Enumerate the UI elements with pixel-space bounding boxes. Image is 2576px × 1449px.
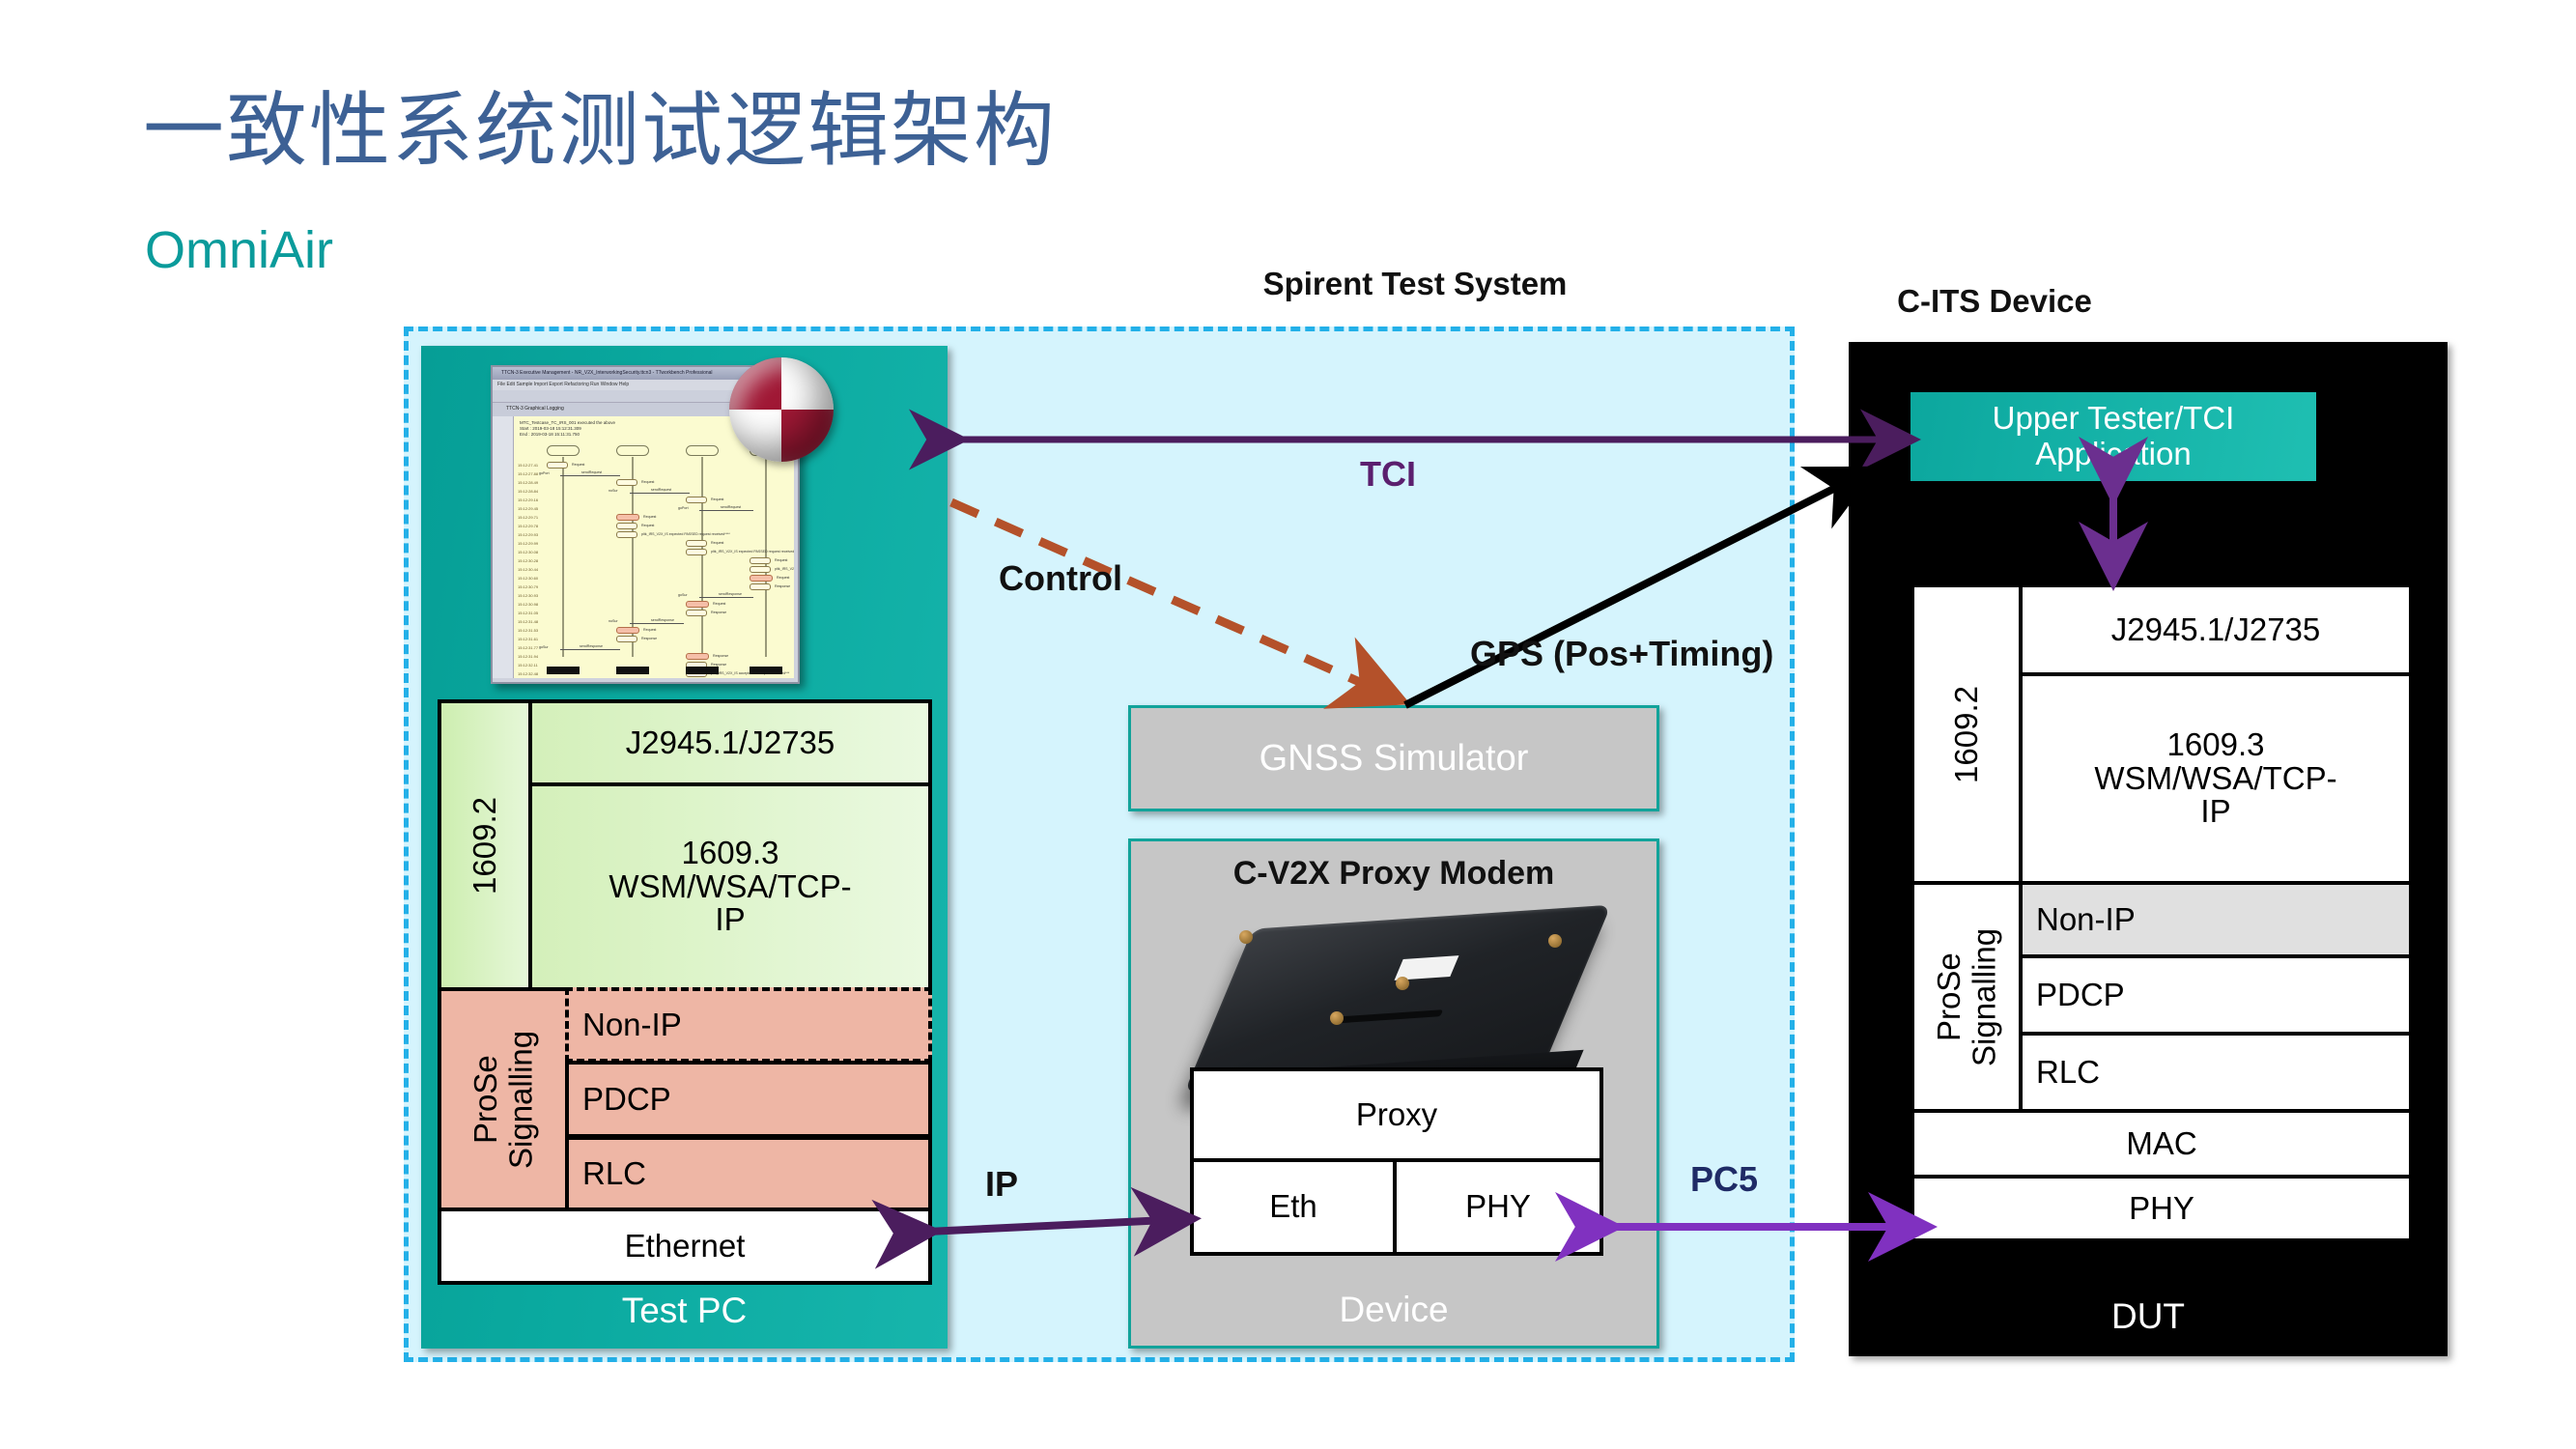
gnss-simulator-box: GNSS Simulator: [1128, 705, 1659, 811]
spirent-test-system-caption: Spirent Test System: [1188, 266, 1642, 302]
upper-tester-tci-application-box: Upper Tester/TCI Application: [1911, 392, 2316, 481]
test-pc-protocol-stack: 1609.2 J2945.1/J2735 1609.3 WSM/WSA/TCP-…: [438, 699, 932, 1289]
test-pc-cell-j2945: J2945.1/J2735: [528, 699, 932, 786]
cv2x-proxy-modem-title: C-V2X Proxy Modem: [1131, 855, 1656, 893]
dut-cell-rlc: RLC: [2019, 1032, 2413, 1113]
page-subtitle: OmniAir: [145, 220, 333, 280]
dut-cell-phy: PHY: [1911, 1175, 2413, 1242]
modem-cell-phy: PHY: [1393, 1158, 1603, 1256]
connector-label-tci: TCI: [1360, 454, 1416, 495]
proxy-modem-stack: Proxy Eth PHY: [1190, 1067, 1603, 1256]
connector-label-pc5: PC5: [1690, 1159, 1758, 1200]
connector-label-ip: IP: [985, 1164, 1018, 1205]
screenshot-header-text: MTC_Testcase_TC_IRS_001 executed the abo…: [520, 420, 615, 438]
dut-protocol-stack: 1609.2 J2945.1/J2735 1609.3 WSM/WSA/TCP-…: [1911, 583, 2413, 1242]
dut-cell-pdcp: PDCP: [2019, 954, 2413, 1036]
modem-cell-proxy: Proxy: [1190, 1067, 1603, 1162]
test-pc-cell-non-ip: Non-IP: [565, 987, 932, 1063]
screenshot-gutter: [493, 416, 514, 678]
test-pc-label: Test PC: [421, 1291, 948, 1331]
connector-label-control: Control: [999, 558, 1122, 599]
dut-label: DUT: [1849, 1296, 2448, 1337]
connector-label-gps: GPS (Pos+Timing): [1470, 634, 1773, 674]
modem-cell-eth: Eth: [1190, 1158, 1397, 1256]
screenshot-sequence-canvas: MTC_Testcase_TC_IRS_001 executed the abo…: [514, 416, 794, 678]
c-its-device-caption: C-ITS Device: [1768, 283, 2222, 320]
test-pc-cell-rlc: RLC: [565, 1136, 932, 1211]
dut-cell-1609-2: 1609.2: [1911, 583, 2023, 885]
slide-canvas: 一致性系统测试逻辑架构 OmniAir Spirent Test System …: [0, 0, 2576, 1449]
modem-device-label: Device: [1131, 1290, 1656, 1330]
test-pc-cell-prose-signalling: ProSe Signalling: [438, 987, 569, 1211]
dut-cell-non-ip: Non-IP: [2019, 881, 2413, 958]
spirent-sphere-logo: [729, 357, 834, 462]
dut-cell-prose-signalling: ProSe Signalling: [1911, 881, 2023, 1113]
dut-cell-j2945: J2945.1/J2735: [2019, 583, 2413, 676]
dut-cell-mac: MAC: [1911, 1109, 2413, 1179]
gnss-simulator-label: GNSS Simulator: [1260, 738, 1529, 780]
test-pc-cell-ethernet: Ethernet: [438, 1207, 932, 1285]
dut-cell-1609-3: 1609.3 WSM/WSA/TCP- IP: [2019, 672, 2413, 885]
test-pc-cell-pdcp: PDCP: [565, 1061, 932, 1138]
page-title: 一致性系统测试逻辑架构: [143, 66, 1057, 183]
test-pc-cell-1609-3: 1609.3 WSM/WSA/TCP- IP: [528, 782, 932, 991]
test-pc-cell-1609-2: 1609.2: [438, 699, 532, 991]
